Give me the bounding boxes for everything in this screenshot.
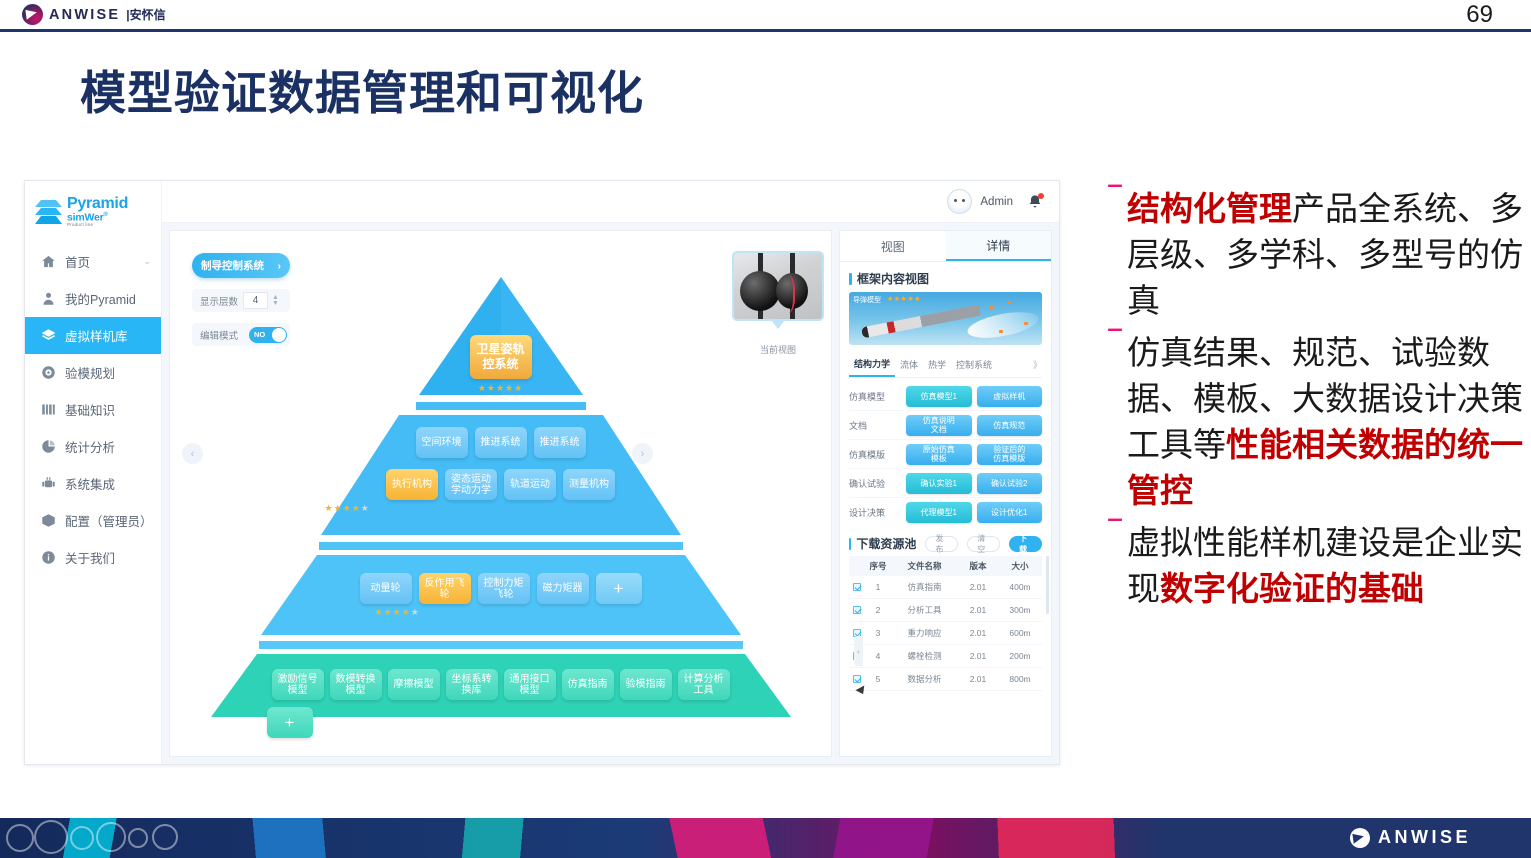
- robot-icon: [41, 476, 56, 491]
- artifact-grid: 仿真模型 仿真模型1 虚拟样机 文档 仿真说明 文档 仿真规范 仿真模版 原始仿…: [840, 378, 1051, 529]
- download-button[interactable]: 下载: [1009, 536, 1042, 552]
- sidebar-item-my-pyramid[interactable]: 我的Pyramid: [25, 280, 161, 317]
- pyramid-tier4-nodes: 激励信号 模型 数模转换 模型 摩擦模型 坐标系转 换库 通用接口 模型 仿真指…: [211, 669, 791, 700]
- bullet-text: 仿真结果、规范、试验数据、模板、大数据设计决策工具等性能相关数据的统一管控: [1127, 330, 1528, 514]
- grid-row: 文档 仿真说明 文档 仿真规范: [849, 411, 1042, 440]
- hero-stars: ★★★★★: [887, 295, 921, 303]
- pyramid-add-node-button[interactable]: +: [267, 707, 313, 738]
- anwise-logo-icon: [1350, 828, 1370, 848]
- cell-size: 800m: [998, 674, 1042, 684]
- cell-no: 3: [865, 628, 891, 638]
- artifact-chip[interactable]: 仿真模型1: [906, 386, 972, 407]
- cell-version: 2.01: [958, 674, 998, 684]
- grid-row: 仿真模型 仿真模型1 虚拟样机: [849, 382, 1042, 411]
- rocket-graphic: [861, 305, 981, 339]
- pyramid-add-node-button[interactable]: +: [596, 573, 642, 604]
- sidebar-item-basic-knowledge[interactable]: 基础知识: [25, 391, 161, 428]
- user-icon: [41, 291, 56, 306]
- table-row[interactable]: 1 仿真指南 2.01 400m: [849, 576, 1042, 599]
- framework-section-header: 框架内容视图: [840, 262, 1051, 292]
- footer-brand: ANWISE: [1350, 827, 1471, 848]
- sidebar-label: 系统集成: [65, 474, 115, 493]
- cell-filename: 螺栓检测: [891, 650, 958, 662]
- chevron-right-icon: ›: [278, 260, 282, 272]
- sidebar-label: 统计分析: [65, 437, 115, 456]
- system-selector-label: 制导控制系统: [201, 258, 264, 273]
- panel-collapse-handle[interactable]: ‹: [854, 636, 863, 666]
- missile-model-preview[interactable]: 导弹模型 ★★★★★: [849, 292, 1042, 345]
- anwise-brand: ANWISE |安怀信: [22, 4, 166, 25]
- sidebar-label: 关于我们: [65, 548, 115, 567]
- cell-no: 2: [865, 605, 891, 615]
- pyramid-node[interactable]: 坐标系转 换库: [446, 669, 498, 700]
- table-row[interactable]: 5 数据分析 2.01 800m: [849, 668, 1042, 691]
- grid-row-label: 设计决策: [849, 506, 901, 519]
- cell-filename: 数据分析: [891, 673, 958, 685]
- pyramid-node[interactable]: 磁力矩器: [537, 573, 589, 604]
- pyramid-node[interactable]: 摩擦模型: [388, 669, 440, 700]
- avatar[interactable]: [947, 189, 972, 214]
- sidebar-label: 基础知识: [65, 400, 115, 419]
- pyramid-diagram: 卫星姿轨 控系统 ★★★★★ 空间环境 推进系统 推进系统 执行机构 姿态运动 …: [211, 277, 791, 717]
- user-name: Admin: [980, 196, 1013, 208]
- pyramid-node[interactable]: 激励信号 模型: [272, 669, 324, 700]
- artifact-chip[interactable]: 原始仿真 模板: [906, 444, 972, 465]
- pyramid-node[interactable]: 姿态运动 学动力学: [445, 469, 497, 500]
- cell-size: 400m: [998, 582, 1042, 592]
- bullet-highlight: 结构化管理: [1127, 190, 1292, 227]
- pyramid-tier3-nodes: 动量轮 反作用飞 轮 控制力矩 飞轮 磁力矩器 +: [211, 573, 791, 604]
- cell-size: 600m: [998, 628, 1042, 638]
- pyramid-node[interactable]: 空间环境: [416, 427, 468, 458]
- bullet-dash-icon: ‾: [1110, 330, 1127, 514]
- artifact-chip[interactable]: 仿真说明 文档: [906, 415, 972, 436]
- column-header-version: 版本: [958, 560, 998, 572]
- grid-row-label: 仿真模型: [849, 390, 901, 403]
- artifact-chip[interactable]: 确认试验2: [977, 473, 1043, 494]
- sidebar-label: 验模规划: [65, 363, 115, 382]
- row-checkbox[interactable]: [849, 606, 865, 614]
- row-checkbox[interactable]: [849, 675, 865, 683]
- application-window: Pyramid simWer® Product line 首页 ⌄ 我的Pyra…: [24, 180, 1060, 765]
- tab-details[interactable]: 详情: [946, 231, 1052, 261]
- download-pool-table: 序号 文件名称 版本 大小 1 仿真指南 2.01 400m: [849, 556, 1042, 691]
- app-topbar: Admin: [162, 181, 1059, 223]
- sidebar-item-home[interactable]: 首页 ⌄: [25, 243, 161, 280]
- pyramid-tier4-add-row: +: [211, 707, 791, 738]
- pyramid-tier2-stars: ★★★★★: [325, 503, 370, 514]
- pyramid-node[interactable]: 通用接口 模型: [504, 669, 556, 700]
- cell-filename: 仿真指南: [891, 581, 958, 593]
- slide-root: ANWISE |安怀信 69 模型验证数据管理和可视化 Pyramid simW…: [0, 0, 1531, 858]
- pyramid-node[interactable]: 轨道运动: [504, 469, 556, 500]
- cell-filename: 重力响应: [891, 627, 958, 639]
- app-main: Admin 制导控制系统 › 显示层数: [162, 181, 1059, 764]
- pyramid-logo-icon: [35, 199, 62, 225]
- pyramid-node[interactable]: 仿真指南: [562, 669, 614, 700]
- cell-version: 2.01: [958, 651, 998, 661]
- subtab-thermal[interactable]: 热学: [923, 353, 951, 376]
- app-sidebar: Pyramid simWer® Product line 首页 ⌄ 我的Pyra…: [25, 181, 162, 764]
- pyramid-node[interactable]: 测量机构: [563, 469, 615, 500]
- pyramid-logo: Pyramid simWer® Product line: [25, 181, 161, 243]
- hero-label: 导弹模型: [853, 295, 881, 305]
- cell-version: 2.01: [958, 628, 998, 638]
- bullet-dash-icon: ‾: [1110, 520, 1127, 612]
- sidebar-label: 我的Pyramid: [65, 289, 136, 308]
- grid-row: 仿真模版 原始仿真 模板 验证后的 仿真模版: [849, 440, 1042, 469]
- column-header-size: 大小: [998, 560, 1042, 572]
- pyramid-tier2-row-b: 执行机构 姿态运动 学动力学 轨道运动 测量机构: [211, 469, 791, 500]
- list-item: ‾ 虚拟性能样机建设是企业实现数字化验证的基础: [1110, 520, 1528, 612]
- sidebar-item-about-us[interactable]: 关于我们: [25, 539, 161, 576]
- bullet-list: ‾ 结构化管理产品全系统、多层级、多学科、多型号的仿真 ‾ 仿真结果、规范、试验…: [1110, 186, 1528, 618]
- section-accent-bar: [849, 273, 852, 285]
- anwise-logo-icon: [22, 4, 43, 25]
- pie-chart-icon: [41, 439, 56, 454]
- cell-size: 300m: [998, 605, 1042, 615]
- subtab-control-system[interactable]: 控制系统: [951, 353, 997, 376]
- pyramid-logo-name: Pyramid: [67, 196, 128, 212]
- table-row[interactable]: 2 分析工具 2.01 300m: [849, 599, 1042, 622]
- artifact-chip[interactable]: 虚拟样机: [977, 386, 1043, 407]
- bell-icon[interactable]: [1027, 194, 1043, 210]
- pyramid-node[interactable]: 卫星姿轨 控系统: [470, 335, 532, 379]
- table-header-row: 序号 文件名称 版本 大小: [849, 556, 1042, 576]
- target-icon: [41, 365, 56, 380]
- grid-row: 确认试验 确认实验1 确认试验2: [849, 469, 1042, 498]
- clear-button[interactable]: 清空: [967, 536, 1000, 552]
- pyramid-tier2-row-a: 空间环境 推进系统 推进系统: [211, 427, 791, 458]
- publish-button[interactable]: 发布: [925, 536, 958, 552]
- bullet-text: 虚拟性能样机建设是企业实现数字化验证的基础: [1127, 520, 1528, 612]
- home-icon: [41, 254, 56, 269]
- artifact-chip[interactable]: 代理模型1: [906, 502, 972, 523]
- sidebar-label: 配置（管理员）: [65, 511, 153, 530]
- sidebar-item-configuration[interactable]: 配置（管理员）: [25, 502, 161, 539]
- download-pool-header: 下载资源池 发布 清空 下载: [840, 529, 1051, 556]
- pyramid-logo-tagline: Product line: [67, 223, 128, 228]
- bullet-highlight: 数字化验证的基础: [1160, 570, 1424, 607]
- footer-circles-decoration: [0, 818, 430, 858]
- pyramid-node[interactable]: 数模转换 模型: [330, 669, 382, 700]
- pyramid-node[interactable]: 验模指南: [620, 669, 672, 700]
- app-body: 制导控制系统 › 显示层数 4 ▲▼ 编辑模式 NO: [162, 223, 1059, 764]
- artifact-chip[interactable]: 设计优化1: [977, 502, 1043, 523]
- cell-no: 1: [865, 582, 891, 592]
- artifact-chip[interactable]: 验证后的 仿真模版: [977, 444, 1043, 465]
- list-item: ‾ 仿真结果、规范、试验数据、模板、大数据设计决策工具等性能相关数据的统一管控: [1110, 330, 1528, 514]
- panel-tabs: 视图 详情: [840, 231, 1051, 262]
- books-icon: [41, 402, 56, 417]
- row-checkbox[interactable]: [849, 583, 865, 591]
- subtab-fluid[interactable]: 流体: [895, 353, 923, 376]
- pyramid-node[interactable]: 计算分析 工具: [678, 669, 730, 700]
- anwise-brand-text: ANWISE: [49, 7, 120, 23]
- table-scrollbar[interactable]: [1046, 556, 1049, 614]
- sidebar-item-validation-planning[interactable]: 验模规划: [25, 354, 161, 391]
- framework-section-title: 框架内容视图: [857, 270, 929, 287]
- detail-panel: 视图 详情 框架内容视图 导弹模型 ★★★★★: [839, 230, 1052, 757]
- tab-view[interactable]: 视图: [840, 231, 946, 261]
- sidebar-item-system-integration[interactable]: 系统集成: [25, 465, 161, 502]
- sidebar-label: 虚拟样机库: [65, 326, 128, 345]
- cell-version: 2.01: [958, 582, 998, 592]
- prev-arrow-icon[interactable]: ‹: [182, 443, 203, 464]
- slide-footer: ANWISE: [0, 818, 1531, 858]
- grid-row-label: 仿真模版: [849, 448, 901, 461]
- table-row[interactable]: 4 螺栓检测 2.01 200m: [849, 645, 1042, 668]
- discipline-subtabs: 结构力学 流体 热学 控制系统 》: [849, 352, 1042, 378]
- column-header-no: 序号: [865, 560, 891, 572]
- list-item: ‾ 结构化管理产品全系统、多层级、多学科、多型号的仿真: [1110, 186, 1528, 324]
- pyramid-tier1-nodes: 卫星姿轨 控系统: [211, 335, 791, 379]
- pyramid-node[interactable]: 反作用飞 轮: [419, 573, 471, 604]
- pyramid-node[interactable]: 执行机构: [386, 469, 438, 500]
- system-selector-button[interactable]: 制导控制系统 ›: [192, 253, 290, 278]
- page-number: 69: [1466, 1, 1493, 29]
- cell-no: 4: [865, 651, 891, 661]
- footer-brand-text: ANWISE: [1378, 827, 1471, 848]
- box-icon: [41, 513, 56, 528]
- cell-size: 200m: [998, 651, 1042, 661]
- bullet-dash-icon: ‾: [1110, 186, 1127, 324]
- notification-badge: [1038, 193, 1044, 199]
- pyramid-tier1-stars: ★★★★★: [211, 383, 791, 394]
- cell-no: 5: [865, 674, 891, 684]
- pyramid-node[interactable]: 推进系统: [534, 427, 586, 458]
- download-pool-title: 下载资源池: [856, 535, 916, 552]
- cell-filename: 分析工具: [891, 604, 958, 616]
- pyramid-node[interactable]: 推进系统: [475, 427, 527, 458]
- page-title: 模型验证数据管理和可视化: [80, 57, 644, 123]
- cell-version: 2.01: [958, 605, 998, 615]
- grid-row-label: 文档: [849, 419, 901, 432]
- grid-row-label: 确认试验: [849, 477, 901, 490]
- pyramid-tier3-stars: ★★★★★: [375, 607, 420, 618]
- sidebar-label: 首页: [65, 252, 90, 271]
- pyramid-node[interactable]: 控制力矩 飞轮: [478, 573, 530, 604]
- chevron-down-icon[interactable]: ⌄: [143, 256, 151, 267]
- column-header-filename: 文件名称: [891, 560, 958, 572]
- header-divider: [0, 29, 1531, 32]
- artifact-chip[interactable]: 确认实验1: [906, 473, 972, 494]
- artifact-chip[interactable]: 仿真规范: [977, 415, 1043, 436]
- layers-icon: [41, 328, 56, 343]
- grid-row: 设计决策 代理模型1 设计优化1: [849, 498, 1042, 527]
- sidebar-item-virtual-prototype-library[interactable]: 虚拟样机库: [25, 317, 161, 354]
- anwise-brand-cn: |安怀信: [126, 6, 165, 23]
- subtab-structural-mechanics[interactable]: 结构力学: [849, 352, 895, 377]
- bullet-text: 结构化管理产品全系统、多层级、多学科、多型号的仿真: [1127, 186, 1528, 324]
- sidebar-item-statistics[interactable]: 统计分析: [25, 428, 161, 465]
- subtabs-more-icon[interactable]: 》: [1033, 358, 1042, 371]
- info-icon: [41, 550, 56, 565]
- slide-header: ANWISE |安怀信 69: [0, 0, 1531, 31]
- section-accent-bar: [849, 538, 851, 550]
- pyramid-node[interactable]: 动量轮: [360, 573, 412, 604]
- pyramid-canvas: 制导控制系统 › 显示层数 4 ▲▼ 编辑模式 NO: [169, 230, 832, 757]
- table-row[interactable]: 3 重力响应 2.01 600m: [849, 622, 1042, 645]
